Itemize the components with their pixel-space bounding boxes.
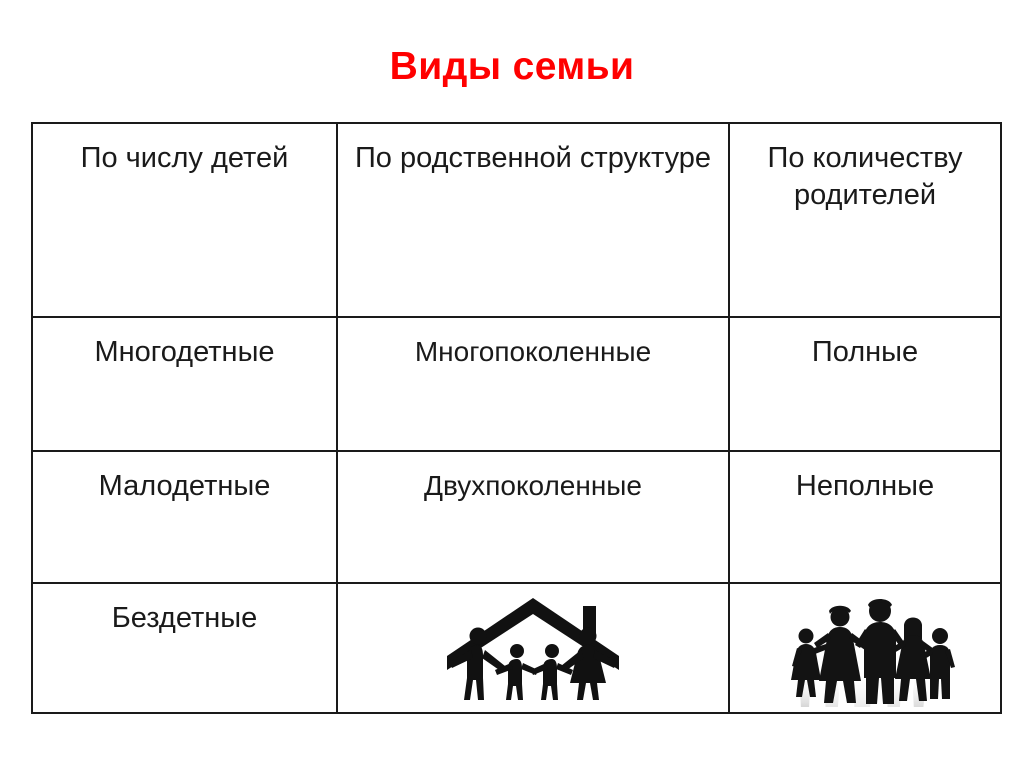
illustration-wrapper [730,584,1000,712]
table-cell-multigenerational: Многопоколенные [337,317,729,451]
family-under-house-icon [433,592,633,704]
table-row: Малодетные Двухпоколенные Неполные [32,451,1001,583]
table-cell-label: Бездетные [33,584,336,637]
table-cell-walking-family-illustration [729,583,1001,713]
table-header-label: По родственной структуре [338,124,728,177]
table-cell-label: Двухпоколенные [338,452,728,504]
table-cell-label: Полные [730,318,1000,371]
table-header-cell-by-parent-count: По количеству родителей [729,123,1001,317]
table-cell-childless: Бездетные [32,583,337,713]
page-title: Виды семьи [0,47,1024,86]
table-header-label: По количеству родителей [730,124,1000,214]
table-header-cell-by-children-count: По числу детей [32,123,337,317]
table-cell-many-children: Многодетные [32,317,337,451]
table-cell-label: Малодетные [33,452,336,505]
family-types-table: По числу детей По родственной структуре … [31,122,1002,714]
table-cell-two-generational: Двухпоколенные [337,451,729,583]
table-cell-complete: Полные [729,317,1001,451]
family-walking-icon [770,589,960,707]
slide-canvas: Виды семьи По числу детей По родственной… [0,0,1024,767]
table-cell-few-children: Малодетные [32,451,337,583]
table-header-label: По числу детей [33,124,336,177]
table-cell-house-illustration [337,583,729,713]
table-row: Бездетные [32,583,1001,713]
table-cell-label: Неполные [730,452,1000,505]
illustration-wrapper [338,584,728,712]
table-header-cell-by-kin-structure: По родственной структуре [337,123,729,317]
table-cell-incomplete: Неполные [729,451,1001,583]
table-header-row: По числу детей По родственной структуре … [32,123,1001,317]
table-cell-label: Многодетные [33,318,336,371]
table-row: Многодетные Многопоколенные Полные [32,317,1001,451]
table-cell-label: Многопоколенные [338,318,728,370]
